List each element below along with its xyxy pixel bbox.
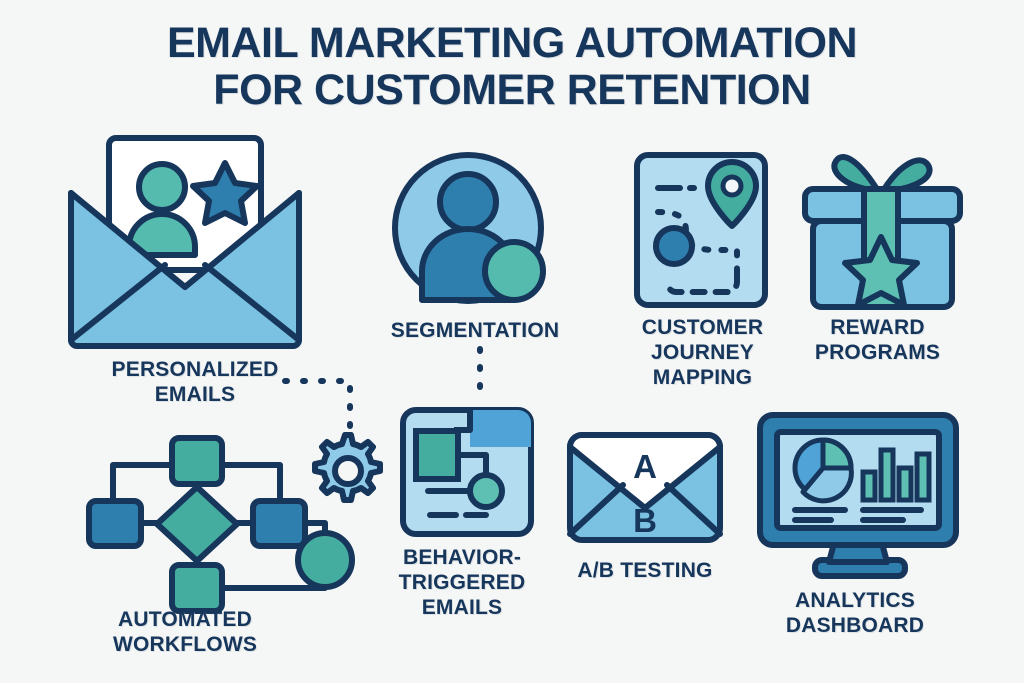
label-behavior-triggered-emails: BEHAVIOR- TRIGGERED EMAILS xyxy=(352,545,572,620)
item-segmentation[interactable]: SEGMENTATION xyxy=(380,150,570,350)
title-line-1: EMAIL MARKETING AUTOMATION xyxy=(167,19,857,67)
item-personalized-emails[interactable]: PERSONALIZED EMAILS xyxy=(60,135,310,425)
label-analytics-dashboard: ANALYTICS DASHBOARD xyxy=(725,588,985,638)
open-envelope-with-card-icon xyxy=(65,135,305,350)
flowchart-gear-icon xyxy=(75,425,365,605)
connector-segmentation-to-behavior xyxy=(470,345,490,410)
item-ab-testing[interactable]: A B A/B TESTING xyxy=(565,430,730,595)
infographic-canvas: EMAIL MARKETING AUTOMATION FOR CUSTOMER … xyxy=(0,0,1024,683)
item-reward-programs[interactable]: REWARD PROGRAMS xyxy=(795,145,975,365)
ab-letter-a: A xyxy=(633,448,657,485)
ab-letter-b: B xyxy=(633,502,657,539)
label-automated-workflows: AUTOMATED WORKFLOWS xyxy=(40,607,330,657)
user-circle-segment-icon xyxy=(390,150,560,315)
label-ab-testing: A/B TESTING xyxy=(545,558,745,583)
map-route-pin-icon xyxy=(632,150,777,310)
item-behavior-triggered-emails[interactable]: BEHAVIOR- TRIGGERED EMAILS xyxy=(390,405,555,620)
page-title: EMAIL MARKETING AUTOMATION FOR CUSTOMER … xyxy=(0,20,1024,114)
monitor-charts-icon xyxy=(755,410,960,580)
item-automated-workflows[interactable]: AUTOMATED WORKFLOWS xyxy=(70,425,370,665)
label-reward-programs: REWARD PROGRAMS xyxy=(770,315,985,365)
envelope-ab-icon: A B xyxy=(565,430,725,545)
item-customer-journey-mapping[interactable]: CUSTOMER JOURNEY MAPPING xyxy=(620,150,785,390)
label-segmentation: SEGMENTATION xyxy=(360,318,590,343)
item-analytics-dashboard[interactable]: ANALYTICS DASHBOARD xyxy=(750,410,965,645)
title-line-2: FOR CUSTOMER RETENTION xyxy=(0,67,1024,114)
label-personalized-emails: PERSONALIZED EMAILS xyxy=(50,357,340,407)
gift-box-icon xyxy=(800,145,965,315)
document-trigger-node-icon xyxy=(398,405,543,540)
